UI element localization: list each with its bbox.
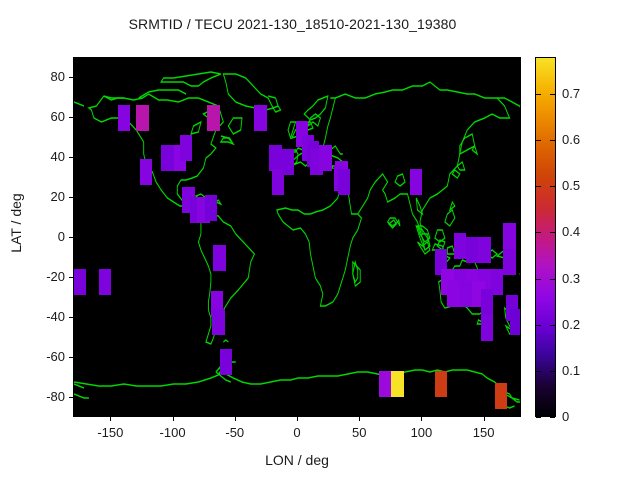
y-tick-label: -80 — [19, 389, 65, 404]
colorbar-tick-label: 0.7 — [562, 86, 602, 101]
data-cells-layer — [74, 58, 521, 417]
colorbar-tick — [536, 94, 541, 95]
data-cell — [207, 105, 219, 131]
data-cell — [495, 383, 507, 409]
data-cell — [269, 145, 281, 171]
data-cell — [510, 309, 521, 335]
y-axis-title: LAT / deg — [8, 163, 24, 283]
x-tick — [173, 417, 174, 421]
y-tick — [69, 117, 73, 118]
y-tick-label: 80 — [19, 69, 65, 84]
y-tick — [69, 277, 73, 278]
x-tick — [359, 417, 360, 421]
x-tick-label: -150 — [80, 425, 140, 440]
data-cell — [99, 269, 111, 295]
colorbar[interactable] — [535, 57, 556, 417]
data-cell — [447, 281, 459, 307]
colorbar-tick — [550, 94, 555, 95]
colorbar-tick — [536, 232, 541, 233]
x-tick — [297, 417, 298, 421]
colorbar-tick — [536, 186, 541, 187]
colorbar-tick-label: 0.3 — [562, 271, 602, 286]
x-tick-label: -100 — [143, 425, 203, 440]
y-tick-label: -40 — [19, 309, 65, 324]
x-tick-label: 100 — [391, 425, 451, 440]
colorbar-tick — [550, 371, 555, 372]
data-cell — [282, 149, 294, 175]
y-tick — [69, 157, 73, 158]
data-cell — [503, 223, 515, 249]
colorbar-tick — [550, 186, 555, 187]
data-cell — [118, 105, 130, 131]
x-tick — [484, 417, 485, 421]
data-cell — [319, 145, 331, 171]
data-cell — [481, 315, 493, 341]
data-cell — [136, 105, 148, 131]
y-tick — [69, 237, 73, 238]
data-cell — [454, 233, 466, 259]
x-tick — [421, 417, 422, 421]
map-plot-area[interactable] — [73, 57, 521, 417]
data-cell — [140, 159, 152, 185]
page-title: SRMTID / TECU 2021-130_18510-2021-130_19… — [0, 16, 585, 32]
x-tick-label: 0 — [267, 425, 327, 440]
colorbar-tick — [536, 325, 541, 326]
data-cell — [460, 281, 472, 307]
data-cell — [503, 249, 515, 275]
y-tick-label: 20 — [19, 189, 65, 204]
data-cell — [379, 371, 391, 397]
data-cell — [466, 237, 478, 263]
y-tick — [69, 77, 73, 78]
colorbar-tick — [550, 325, 555, 326]
y-tick-label: 40 — [19, 149, 65, 164]
x-tick-label: 50 — [329, 425, 389, 440]
data-cell — [212, 309, 224, 335]
x-tick-label: -50 — [205, 425, 265, 440]
data-cell — [180, 135, 192, 161]
colorbar-tick — [550, 279, 555, 280]
colorbar-tick-label: 0 — [562, 409, 602, 424]
colorbar-tick-label: 0.4 — [562, 224, 602, 239]
y-tick-label: -20 — [19, 269, 65, 284]
colorbar-tick-label: 0.5 — [562, 178, 602, 193]
colorbar-tick — [536, 140, 541, 141]
data-cell — [410, 169, 422, 195]
y-tick-label: 0 — [19, 229, 65, 244]
colorbar-tick — [536, 371, 541, 372]
data-cell — [213, 245, 225, 271]
data-cell — [220, 349, 232, 375]
data-cell — [435, 371, 447, 397]
data-cell — [205, 195, 217, 221]
y-tick — [69, 197, 73, 198]
colorbar-tick-label: 0.2 — [562, 317, 602, 332]
y-tick — [69, 397, 73, 398]
data-cell — [391, 371, 403, 397]
y-tick — [69, 357, 73, 358]
plot-root: SRMTID / TECU 2021-130_18510-2021-130_19… — [0, 0, 640, 480]
data-cell — [478, 237, 490, 263]
x-axis-title: LON / deg — [73, 452, 521, 468]
x-tick — [110, 417, 111, 421]
y-tick — [69, 317, 73, 318]
colorbar-tick — [550, 140, 555, 141]
data-cell — [338, 169, 350, 195]
data-cell — [74, 269, 86, 295]
colorbar-tick — [550, 417, 555, 418]
x-tick — [235, 417, 236, 421]
colorbar-tick-label: 0.1 — [562, 363, 602, 378]
colorbar-tick-label: 0.6 — [562, 132, 602, 147]
y-tick-label: 60 — [19, 109, 65, 124]
colorbar-tick — [550, 232, 555, 233]
data-cell — [481, 289, 493, 315]
y-tick-label: -60 — [19, 349, 65, 364]
x-tick-label: 150 — [454, 425, 514, 440]
data-cell — [254, 105, 266, 131]
colorbar-tick — [536, 417, 541, 418]
colorbar-tick — [536, 279, 541, 280]
data-cell — [161, 145, 173, 171]
